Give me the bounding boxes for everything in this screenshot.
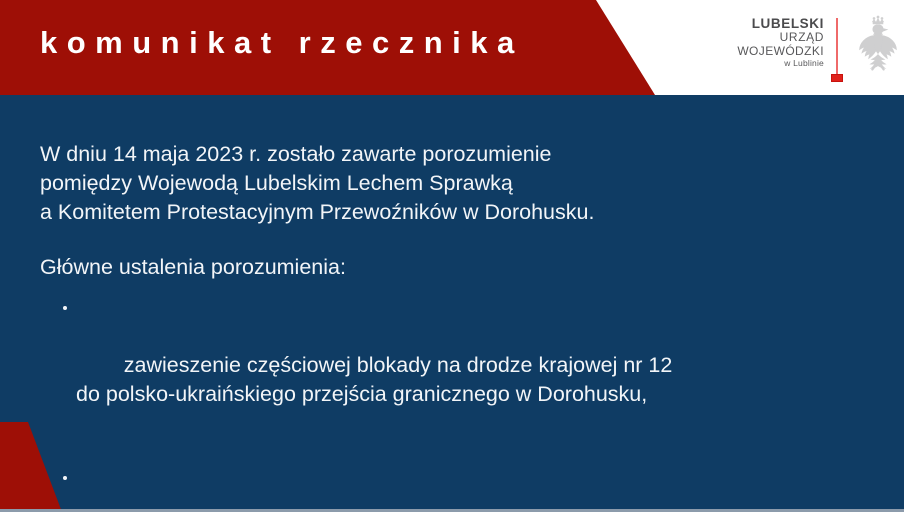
- logo-divider-rule: [836, 18, 838, 76]
- logo-line-w-lublinie: w Lublinie: [726, 59, 824, 69]
- bullet-dot-icon: [63, 306, 67, 310]
- logo-divider-foot: [831, 74, 843, 82]
- findings-list: zawieszenie częściowej blokady na drodze…: [62, 293, 735, 512]
- list-item: zawieszenie częściowej blokady na drodze…: [62, 293, 735, 438]
- announcement-slide: komunikat rzecznika LUBELSKI URZĄD WOJEW…: [0, 0, 904, 512]
- intro-paragraph: W dniu 14 maja 2023 r. zostało zawarte p…: [40, 140, 594, 227]
- page-title: komunikat rzecznika: [40, 27, 524, 58]
- logo-line-wojewodzki: WOJEWÓDZKI: [726, 45, 824, 58]
- logo-wordmark: LUBELSKI URZĄD WOJEWÓDZKI w Lublinie: [726, 16, 824, 69]
- institution-logo: LUBELSKI URZĄD WOJEWÓDZKI w Lublinie: [726, 16, 896, 88]
- list-item-text: zawieszenie częściowej blokady na drodze…: [76, 353, 672, 406]
- bullet-dot-icon: [63, 476, 67, 480]
- list-item: kontynuacja działań Wojewody Lubelskiego…: [62, 463, 735, 512]
- logo-line-urzad: URZĄD: [726, 31, 824, 44]
- body-area: W dniu 14 maja 2023 r. zostało zawarte p…: [0, 95, 904, 512]
- polish-eagle-emblem-icon: [850, 13, 904, 85]
- logo-line-lubelski: LUBELSKI: [726, 16, 824, 31]
- findings-lead-in: Główne ustalenia porozumienia:: [40, 253, 346, 282]
